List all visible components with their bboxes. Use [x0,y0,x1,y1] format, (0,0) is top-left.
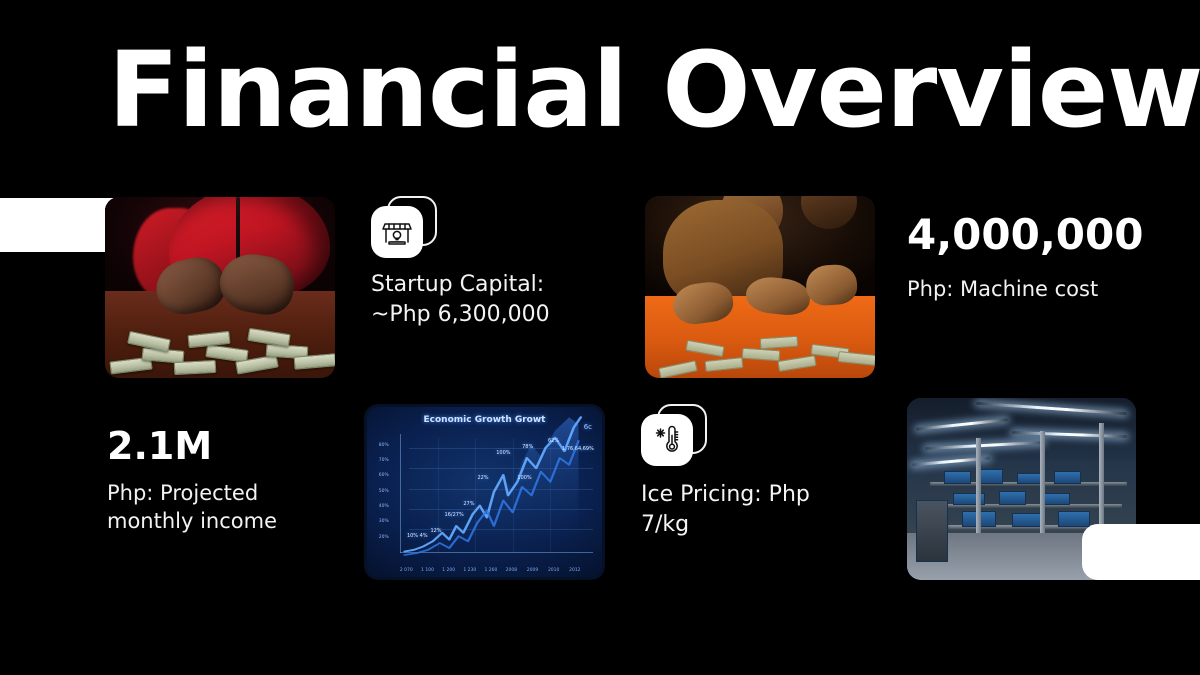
slide-canvas: Financial Overview [0,0,1200,675]
people-at-orange-table-photo [645,196,875,378]
ice-pricing-line1: Ice Pricing: Php [641,480,871,510]
chart-annotation: 22% [477,475,488,481]
hands-counting-cash-photo [105,197,335,378]
startup-capital-line2: ~Php 6,300,000 [371,300,621,330]
chart-annotation: 62% [548,438,559,444]
projected-income-caption-line1: Php: Projected [107,479,337,507]
chart-annotation: 1,76,64,69% [562,446,594,452]
chart-annotation: 27% [463,501,474,507]
chart-screen: Economic Growth Growt 6c 80% 70% 60% 50%… [367,407,602,577]
snowflake-glyph [657,429,665,437]
projected-income-caption: Php: Projected monthly income [107,479,337,535]
icon-plate [371,206,423,258]
startup-capital-line1: Startup Capital: [371,270,621,300]
thermometer-snowflake-icon [641,404,707,466]
economic-growth-chart-photo: Economic Growth Growt 6c 80% 70% 60% 50%… [364,404,605,580]
chart-plot [367,407,602,577]
photo-art [645,196,875,378]
chart-annotation: 100% [517,475,531,481]
thermometer-glyph [650,423,684,457]
storefront-icon [371,196,437,258]
page-title: Financial Overview [108,34,1108,146]
chart-annotation: 10% 4% [407,533,428,539]
ice-pricing-line2: 7/kg [641,510,871,540]
chart-annotation: 12% [430,528,441,534]
chart-annotation: 78% [522,444,533,450]
machine-cost-value: 4,000,000 [907,211,1143,259]
projected-income-value: 2.1M [107,424,212,468]
ice-pricing-label: Ice Pricing: Php 7/kg [641,480,871,540]
startup-capital-label: Startup Capital: ~Php 6,300,000 [371,270,621,330]
chart-annotation: 16/27% [445,512,464,518]
projected-income-caption-line2: monthly income [107,507,337,535]
icon-plate [641,414,693,466]
decorative-shape-right [1082,524,1200,580]
machine-cost-caption: Php: Machine cost [907,275,1167,303]
storefront-glyph [380,215,414,249]
photo-art [105,197,335,378]
chart-annotation: 100% [496,450,510,456]
